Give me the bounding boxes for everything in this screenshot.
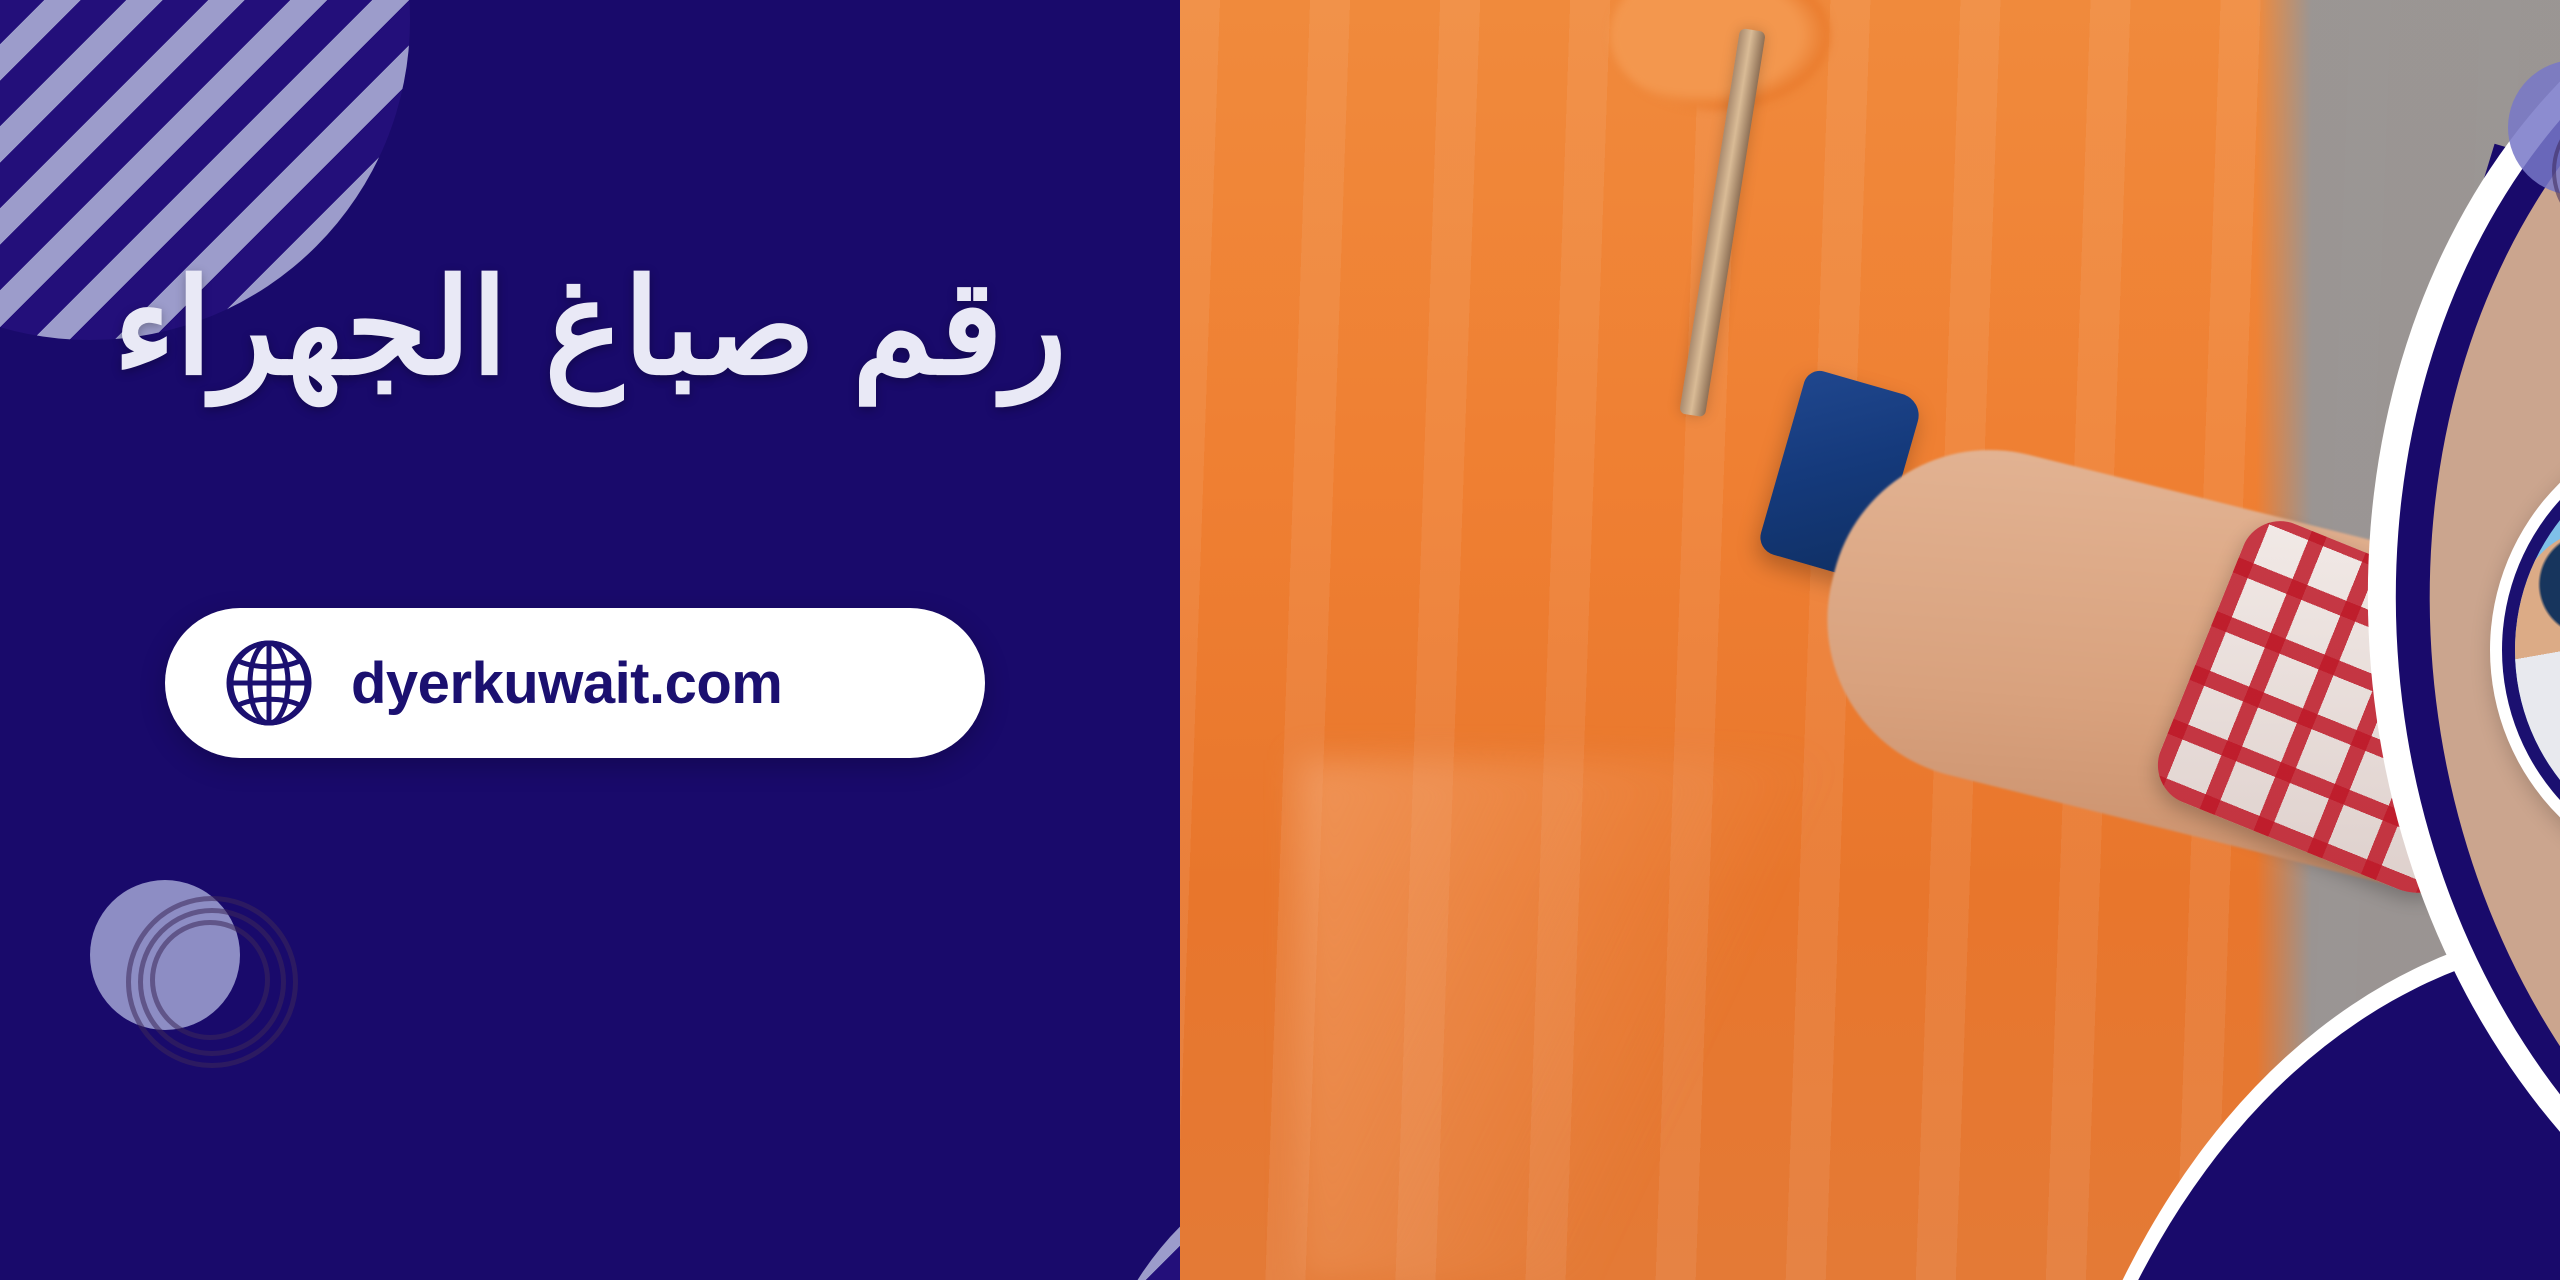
website-url-button[interactable]: dyerkuwait.com	[165, 608, 985, 758]
promo-banner: رقم صباغ الجهراء dyerkuwait.com	[0, 0, 2560, 1280]
ornament-ring-outer	[126, 896, 298, 1068]
ornament-ring-inner	[150, 920, 270, 1040]
concentric-rings-ornament-left	[90, 870, 320, 1100]
orange-wall-roller-photo	[1180, 0, 2560, 1280]
photo-collage	[1180, 0, 2560, 1280]
ornament-ring-middle	[138, 908, 286, 1056]
wall-unpainted-patch	[1300, 760, 1820, 1280]
ornament-disc	[90, 880, 240, 1030]
website-url-text: dyerkuwait.com	[351, 650, 782, 717]
roller-sleeve	[1610, 0, 1830, 110]
page-title: رقم صباغ الجهراء	[90, 250, 1090, 406]
globe-icon	[221, 635, 317, 731]
